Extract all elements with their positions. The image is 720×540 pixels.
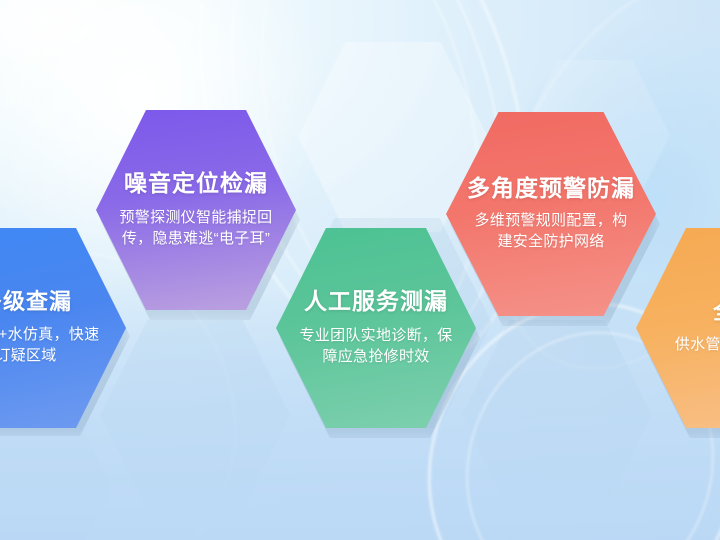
poster-canvas: 多级查漏 区计量+水仿真，快速订疑区域 噪音定位检漏 预警探测仪智能捕捉回传，隐… (0, 0, 720, 540)
hex-card-description: 预警探测仪智能捕捉回传，隐患难逃“电子耳” (111, 207, 281, 250)
hex-card-title: 噪音定位检漏 (124, 171, 268, 196)
hex-card-description: 供水管网理，漏损 (675, 334, 720, 355)
hex-card-title: 人工服务测漏 (304, 289, 448, 314)
hex-card-description: 区计量+水仿真，快速订疑区域 (0, 324, 106, 367)
hex-card-title: 全流 (713, 300, 720, 324)
hex-card-title: 多角度预警防漏 (467, 176, 635, 201)
hex-card-description: 多维预警规则配置，构建安全防护网络 (471, 210, 631, 253)
hex-card-description: 专业团队实地诊断，保障应急抢修时效 (296, 325, 456, 368)
hex-card-title: 多级查漏 (0, 290, 72, 314)
